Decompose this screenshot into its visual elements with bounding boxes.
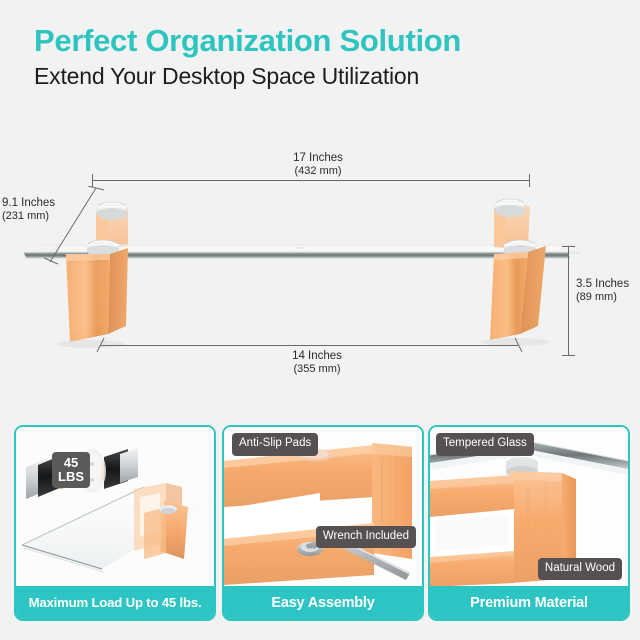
weight-value: 45 bbox=[58, 456, 84, 470]
dumbbell-on-shelf-illustration bbox=[16, 427, 214, 586]
dimension-label-width: 17 Inches (432 mm) bbox=[258, 152, 378, 178]
feature-panel-max-load[interactable]: 45 LBS Maximum Load Up to 45 lbs. bbox=[14, 425, 216, 621]
feature-panel-premium-material[interactable]: Tempered Glass Natural Wood Premium Mate… bbox=[428, 425, 630, 621]
tag-tempered-glass: Tempered Glass bbox=[436, 433, 534, 456]
dimension-width-inches: 17 Inches bbox=[258, 152, 378, 165]
easy-assembly-artwork: Anti-Slip Pads Wrench Included bbox=[224, 427, 422, 586]
premium-material-artwork: Tempered Glass Natural Wood bbox=[430, 427, 628, 586]
right-leg-lower bbox=[490, 246, 546, 340]
dimension-label-height: 3.5 Inches (89 mm) bbox=[576, 278, 640, 304]
dimension-tick-inner-right bbox=[513, 337, 523, 353]
weight-unit: LBS bbox=[58, 470, 84, 484]
dimension-line-width bbox=[92, 180, 530, 181]
dimension-cap-height-bottom bbox=[562, 355, 575, 356]
weight-badge: 45 LBS bbox=[52, 452, 90, 488]
max-load-artwork: 45 LBS bbox=[16, 427, 214, 586]
dimension-depth-mm: (231 mm) bbox=[2, 210, 84, 223]
caption-premium-material: Premium Material bbox=[430, 586, 628, 619]
tag-wrench-included: Wrench Included bbox=[316, 526, 416, 549]
caption-easy-assembly: Easy Assembly bbox=[224, 586, 422, 619]
dimension-width-mm: (432 mm) bbox=[258, 165, 378, 178]
dimension-inner-width-inches: 14 Inches bbox=[252, 350, 382, 363]
page-title: Perfect Organization Solution bbox=[34, 24, 614, 57]
right-leg-caps bbox=[495, 199, 525, 217]
dimension-tick-inner-left bbox=[96, 337, 106, 353]
dimension-line-inner-width bbox=[100, 345, 518, 346]
caption-max-load: Maximum Load Up to 45 lbs. bbox=[16, 586, 214, 619]
dimension-height-mm: (89 mm) bbox=[576, 291, 640, 304]
dimension-label-inner-width: 14 Inches (355 mm) bbox=[252, 350, 382, 376]
dimension-diagram: 17 Inches (432 mm) 9.1 Inches (231 mm) 3… bbox=[0, 112, 640, 412]
infographic-page: Perfect Organization Solution Extend You… bbox=[0, 0, 640, 640]
page-subtitle: Extend Your Desktop Space Utilization bbox=[34, 63, 614, 89]
header: Perfect Organization Solution Extend You… bbox=[34, 24, 614, 90]
tag-natural-wood: Natural Wood bbox=[538, 558, 622, 581]
dimension-cap-width-right bbox=[529, 174, 530, 187]
dimension-depth-inches: 9.1 Inches bbox=[2, 197, 84, 210]
feature-panels: 45 LBS Maximum Load Up to 45 lbs. bbox=[0, 425, 640, 625]
feature-panel-easy-assembly[interactable]: Anti-Slip Pads Wrench Included Easy Asse… bbox=[222, 425, 424, 621]
dimension-label-depth: 9.1 Inches (231 mm) bbox=[2, 197, 84, 223]
dimension-height-inches: 3.5 Inches bbox=[576, 278, 640, 291]
dimension-cap-height-top bbox=[562, 246, 575, 247]
dimension-line-height bbox=[568, 246, 569, 356]
tag-anti-slip-pads: Anti-Slip Pads bbox=[232, 433, 318, 456]
dimension-inner-width-mm: (355 mm) bbox=[252, 363, 382, 376]
